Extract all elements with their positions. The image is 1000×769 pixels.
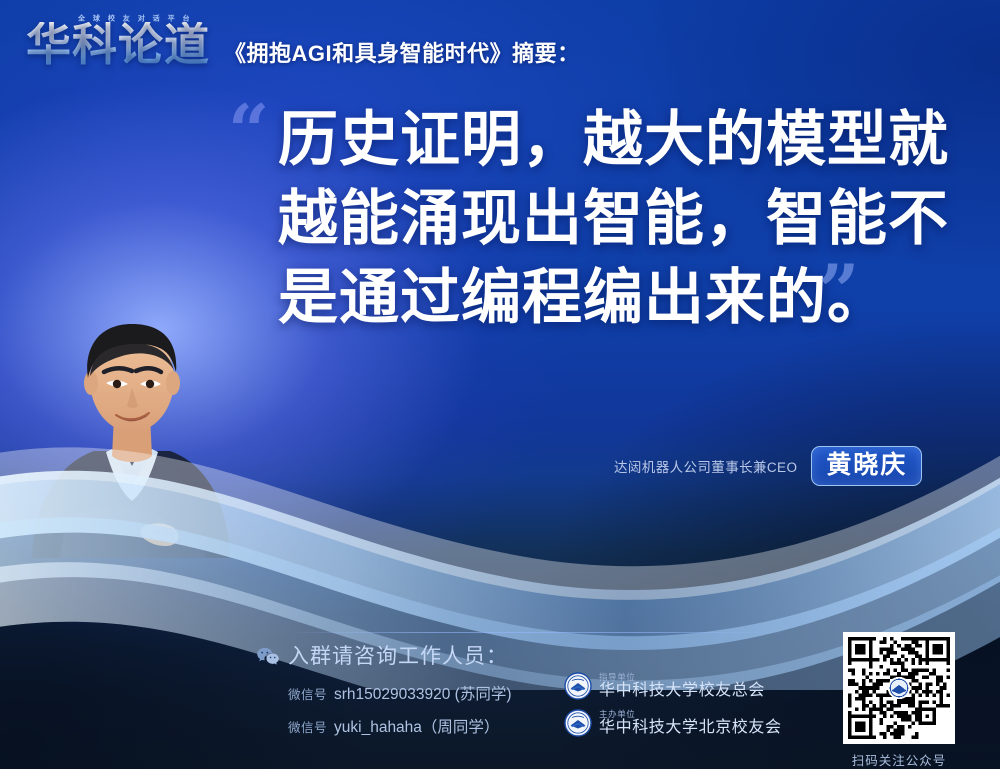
university-seal-icon: [564, 672, 592, 700]
speaker-attribution: 达闼机器人公司董事长兼CEO 黄晓庆: [614, 446, 922, 486]
contact-label-1: 微信号: [288, 688, 327, 702]
contact-row-1: 微信号srh15029033920 (苏同学): [288, 682, 512, 704]
poster-canvas: 全球校友对话平台 华科论道 《拥抱AGI和具身智能时代》摘要： “ 历史证明，越…: [0, 0, 1000, 769]
organization-row-1: 指导单位 华中科技大学校友总会: [564, 672, 765, 700]
contact-cta: 入群请咨询工作人员：: [288, 640, 508, 670]
quote-line-1: 历史证明，越大的模型就: [278, 100, 938, 179]
organization-kind-2: 主办单位: [599, 710, 782, 719]
university-seal-icon: [564, 709, 592, 737]
speaker-role: 达闼机器人公司董事长兼CEO: [614, 456, 797, 476]
speaker-name-badge: 黄晓庆: [811, 446, 922, 486]
organization-kind-1: 指导单位: [599, 673, 765, 682]
quote-open-mark: “: [228, 95, 265, 167]
contact-value-1: srh15029033920 (苏同学): [334, 686, 512, 703]
organization-name-2: 华中科技大学北京校友会: [599, 720, 782, 736]
brand-logo-text: 华科论道: [26, 22, 210, 67]
wechat-icon: [256, 646, 280, 666]
organization-text-1: 指导单位 华中科技大学校友总会: [599, 673, 765, 700]
contact-label-2: 微信号: [288, 721, 327, 735]
qr-caption: 扫码关注公众号: [843, 750, 955, 769]
contact-row-2: 微信号yuki_hahaha（周同学）: [288, 715, 499, 737]
page-title: 《拥抱AGI和具身智能时代》摘要：: [224, 36, 580, 68]
quote-close-mark: ”: [818, 255, 855, 327]
poster-header: 全球校友对话平台 华科论道 《拥抱AGI和具身智能时代》摘要：: [0, 0, 1000, 92]
brand-logo: 全球校友对话平台 华科论道: [26, 14, 216, 72]
organization-text-2: 主办单位 华中科技大学北京校友会: [599, 710, 782, 737]
footer-divider: [288, 632, 784, 633]
organization-row-2: 主办单位 华中科技大学北京校友会: [564, 709, 782, 737]
qr-code[interactable]: [843, 632, 955, 744]
contact-value-2: yuki_hahaha（周同学）: [334, 719, 499, 736]
organization-name-1: 华中科技大学校友总会: [599, 683, 765, 699]
quote-line-2: 越能涌现出智能，智能不: [278, 179, 938, 258]
